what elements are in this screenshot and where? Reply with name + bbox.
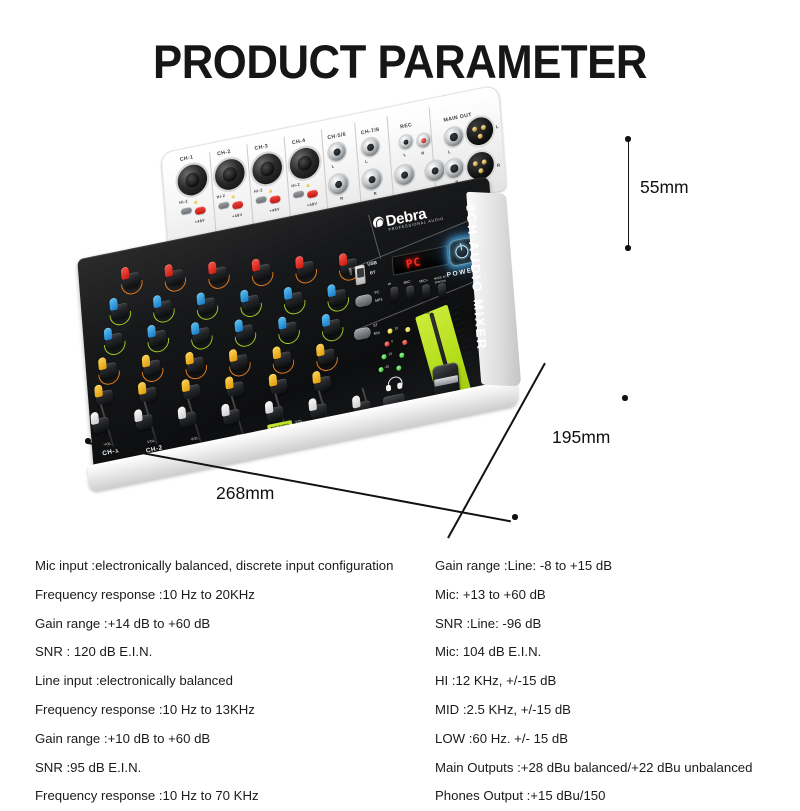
spec-line: Frequency response :10 Hz to 13KHz — [35, 696, 435, 725]
eff-send-knob-ch2[interactable] — [139, 386, 157, 403]
play-pause-button[interactable] — [390, 286, 399, 303]
trs-jack-ch56-r[interactable] — [329, 173, 349, 196]
stereo-label-st: ST — [373, 323, 378, 328]
headphone-icon — [385, 375, 402, 391]
rear-label-ch78-l: L — [365, 159, 369, 164]
meter-led-green-r — [399, 352, 404, 357]
aux-output-jack[interactable] — [425, 159, 445, 182]
meter-label-db: dB — [426, 310, 431, 315]
rear-label-phantom-1: +48V — [194, 218, 205, 224]
trs-jack-ch78-r[interactable] — [362, 168, 382, 191]
rear-label-hiz-2: HI-Z — [216, 194, 226, 200]
meter-led-red-l — [384, 341, 389, 346]
page-title: PRODUCT PARAMETER — [28, 34, 772, 89]
spec-line: SNR : 120 dB E.I.N. — [35, 638, 435, 667]
rear-label-xlr-r: R — [496, 162, 500, 168]
dim-dot-height-bottom — [625, 245, 631, 251]
eff-send-knob-ch78[interactable] — [314, 375, 332, 392]
spec-line: MID :2.5 KHz, +/-15 dB — [435, 696, 800, 725]
source-label-mp3: MP3 — [375, 298, 383, 303]
usb-label: USB — [367, 260, 377, 267]
meter-led-green2-r — [396, 365, 401, 370]
rec-rca-jack-r[interactable] — [417, 133, 431, 149]
spec-line: Gain range :+10 dB to +60 dB — [35, 725, 435, 754]
rear-label-hiz-3: HI-Z — [254, 188, 264, 194]
source-label-pc: PC — [374, 290, 380, 295]
meter-led-green2-l — [378, 367, 383, 372]
audio-mixer-device: CH-1 CH-2 CH-3 CH-4 CH-5/6 CH-7/8 REC MA… — [70, 81, 535, 482]
spec-line: SNR :95 dB E.I.N. — [35, 754, 435, 783]
debra-logo-mark — [373, 216, 385, 229]
phantom-switch-ch2[interactable] — [232, 200, 243, 209]
hiz-switch-ch4[interactable] — [293, 190, 304, 198]
dim-label-height: 55mm — [640, 177, 689, 198]
rear-label-phantom-3: +48V — [269, 207, 280, 213]
eff-send-knob-ch3[interactable] — [183, 384, 201, 401]
mic-up-button[interactable] — [422, 284, 431, 301]
rec-rca-jack-l[interactable] — [399, 134, 413, 150]
lcd-display: PC — [392, 245, 449, 275]
rear-label-xlr-l: L — [495, 124, 499, 130]
eff-send-knob-ch56[interactable] — [270, 378, 288, 395]
spec-line: Mic: 104 dB E.I.N. — [435, 638, 800, 667]
spec-line: LOW :60 Hz. +/- 15 dB — [435, 725, 800, 754]
meter-led-red-r — [402, 340, 407, 345]
spec-line: Gain range :+14 dB to +60 dB — [35, 610, 435, 639]
spec-line: Mic: +13 to +60 dB — [435, 581, 800, 610]
meter-label-20: -20 — [384, 365, 390, 370]
rear-label-rec-r: R — [421, 150, 425, 156]
rear-label-hiz-4: HI-Z — [291, 183, 301, 189]
phone-output-jack[interactable] — [395, 164, 415, 187]
spec-line: Gain range :Line: -8 to +15 dB — [435, 552, 800, 581]
product-illustration: CH-1 CH-2 CH-3 CH-4 CH-5/6 CH-7/8 REC MA… — [0, 105, 800, 540]
spec-line: Line input :electronically balanced — [35, 667, 435, 696]
main-out-trs-r[interactable] — [445, 158, 464, 180]
spec-line: Main Outputs :+28 dBu balanced/+22 dBu u… — [435, 754, 800, 783]
rear-label-phantom-4: +48V — [307, 202, 318, 208]
rear-label-ch78-r: R — [373, 191, 377, 197]
rear-label-phantom-2: +48V — [232, 213, 243, 219]
eff-send-knob-ch1[interactable] — [96, 389, 114, 406]
rear-label-hiz-1: HI-Z — [179, 199, 189, 205]
mic-down-button[interactable] — [406, 285, 415, 302]
spec-line: Phones Output :+15 dBu/150 — [435, 782, 800, 811]
dim-dot-depth-top — [622, 395, 628, 401]
spec-column-left: Mic input :electronically balanced, disc… — [35, 552, 435, 811]
meter-label-0: 0 — [391, 339, 394, 343]
meter-led-yellow-l — [387, 328, 392, 333]
dim-line-height — [628, 139, 630, 247]
transport-label-play: ⏭ — [387, 282, 391, 287]
spec-line: Frequency response :10 Hz to 20KHz — [35, 581, 435, 610]
spec-line: SNR :Line: -96 dB — [435, 610, 800, 639]
meter-led-yellow-r — [405, 327, 410, 332]
phantom-switch-ch4[interactable] — [307, 189, 318, 198]
lcd-display-value: PC — [405, 255, 422, 271]
dim-dot-width-right — [512, 514, 518, 520]
phantom-switch-ch3[interactable] — [269, 195, 280, 204]
dim-label-width: 268mm — [216, 483, 274, 504]
usb-port[interactable] — [355, 264, 366, 285]
hiz-switch-ch3[interactable] — [256, 196, 267, 204]
dim-line-width — [88, 442, 511, 522]
source-select-switch[interactable] — [355, 294, 373, 308]
meter-label-10: 10 — [394, 326, 398, 331]
dim-label-depth: 195mm — [552, 427, 610, 448]
stereo-label-mix: MIX — [373, 331, 380, 336]
hiz-switch-ch1[interactable] — [181, 207, 192, 215]
transport-label-mic-down: MIC- — [403, 279, 411, 284]
transport-label-mic-up: MIC+ — [419, 278, 428, 284]
eff-send-knob-ch4[interactable] — [226, 381, 244, 398]
rear-label-ch56-r: R — [340, 195, 344, 201]
spec-line: Mic input :electronically balanced, disc… — [35, 552, 435, 581]
stereo-mix-switch[interactable] — [354, 326, 372, 340]
rear-label-mainout-l: L — [448, 149, 452, 154]
spec-line: Frequency response :10 Hz to 70 KHz — [35, 782, 435, 811]
mode-bt-button[interactable] — [438, 283, 447, 300]
rear-label-rec-l: L — [403, 152, 407, 157]
phantom-switch-ch1[interactable] — [195, 206, 206, 215]
meter-led-green-l — [381, 354, 386, 359]
bluetooth-label: BT — [370, 269, 376, 275]
rear-label-ch56-l: L — [331, 163, 335, 168]
meter-label-15: -15 — [387, 352, 393, 357]
spec-column-right: Gain range :Line: -8 to +15 dB Mic: +13 … — [435, 552, 800, 811]
hiz-switch-ch2[interactable] — [218, 201, 229, 209]
spec-line: HI :12 KHz, +/-15 dB — [435, 667, 800, 696]
